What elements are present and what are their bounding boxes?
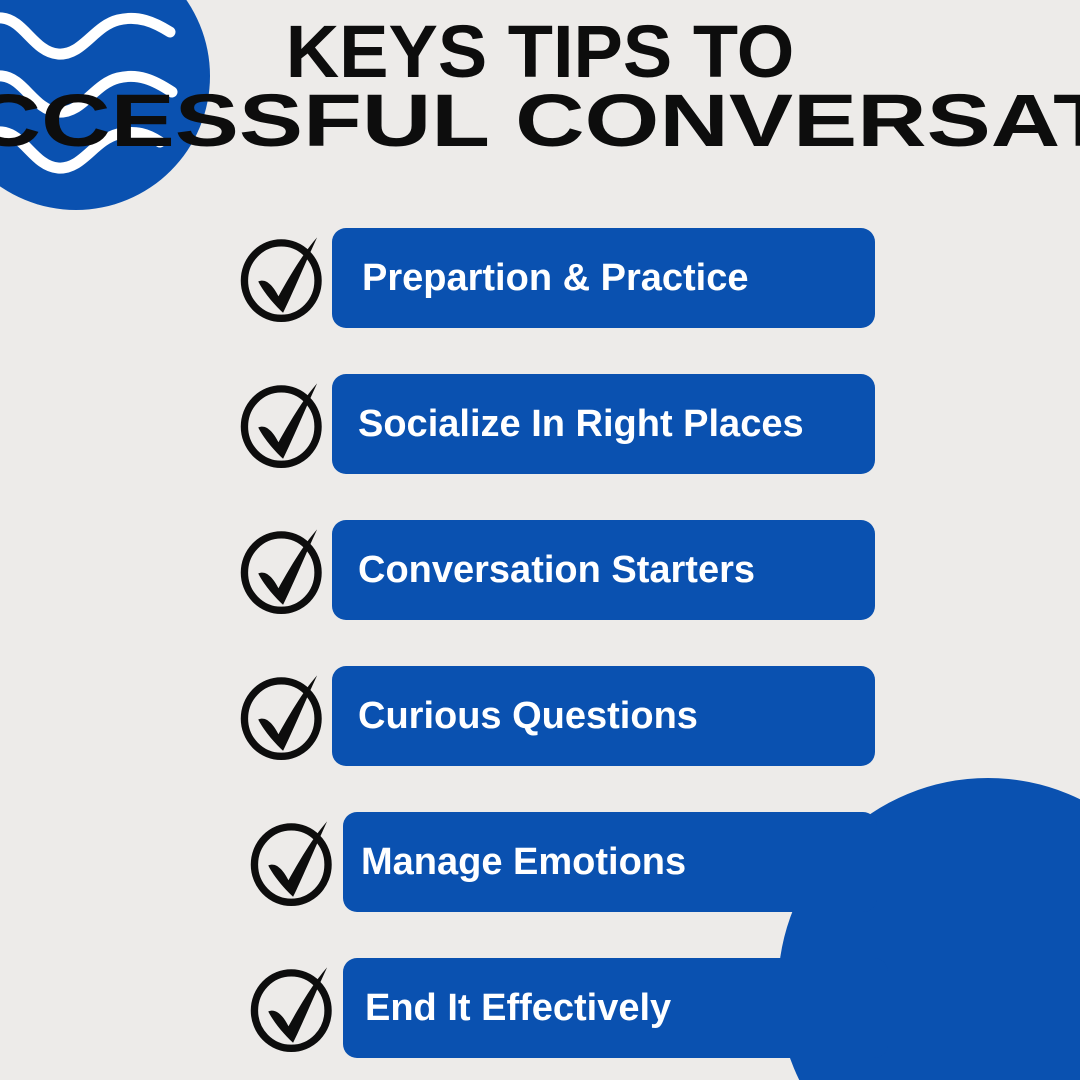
- list-item-label: Prepartion & Practice: [362, 257, 748, 300]
- tip-pill[interactable]: Manage Emotions: [343, 812, 877, 912]
- list-item[interactable]: Curious Questions: [0, 666, 1080, 766]
- check-circle-icon: [238, 228, 330, 324]
- check-circle-icon: [238, 666, 330, 762]
- list-item-label: Curious Questions: [358, 695, 698, 738]
- tip-pill[interactable]: Curious Questions: [332, 666, 875, 766]
- list-item[interactable]: Prepartion & Practice: [0, 228, 1080, 328]
- tip-pill[interactable]: Conversation Starters: [332, 520, 875, 620]
- title-line-2: SUCCESSFUL CONVERSATION: [0, 87, 1080, 156]
- tip-pill[interactable]: End It Effectively: [343, 958, 888, 1058]
- title-line-1: KEYS TIPS TO: [0, 18, 1080, 87]
- list-item[interactable]: Conversation Starters: [0, 520, 1080, 620]
- list-item[interactable]: Socialize In Right Places: [0, 374, 1080, 474]
- list-item[interactable]: Manage Emotions: [0, 812, 1080, 912]
- list-item[interactable]: End It Effectively: [0, 958, 1080, 1058]
- list-item-label: Socialize In Right Places: [358, 403, 804, 446]
- tip-pill[interactable]: Prepartion & Practice: [332, 228, 875, 328]
- check-circle-icon: [248, 958, 340, 1054]
- list-item-label: Conversation Starters: [358, 549, 755, 592]
- tip-pill[interactable]: Socialize In Right Places: [332, 374, 875, 474]
- tips-list: Prepartion & Practice Socialize In Right…: [0, 228, 1080, 1080]
- check-circle-icon: [238, 374, 330, 470]
- page-title: KEYS TIPS TO SUCCESSFUL CONVERSATION: [0, 18, 1080, 156]
- check-circle-icon: [238, 520, 330, 616]
- list-item-label: End It Effectively: [365, 987, 671, 1030]
- list-item-label: Manage Emotions: [361, 841, 686, 884]
- poster-canvas: KEYS TIPS TO SUCCESSFUL CONVERSATION Pre…: [0, 0, 1080, 1080]
- check-circle-icon: [248, 812, 340, 908]
